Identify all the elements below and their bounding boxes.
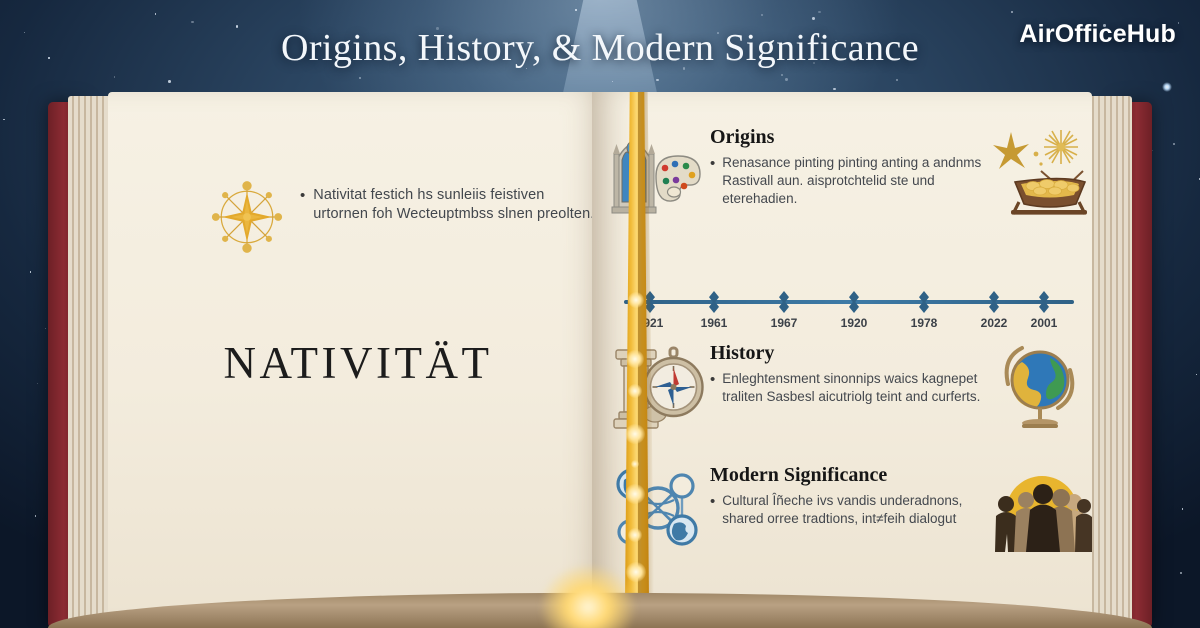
- star: [818, 11, 820, 13]
- left-page: • Nativitat festich hs sunleiis feistive…: [108, 92, 608, 628]
- star: [656, 79, 659, 82]
- star: [1162, 82, 1172, 92]
- illustration-canvas: Origins, History, & Modern Significance …: [0, 0, 1200, 628]
- modern-significance-body: Modern Significance • Cultural Îñeche iv…: [710, 460, 988, 528]
- light-particle: [631, 460, 639, 468]
- right-page: Origins • Renasance pinting pinting anti…: [592, 92, 1092, 628]
- timeline-year-label: 2022: [981, 316, 1008, 330]
- history-heading: History: [710, 342, 988, 365]
- light-particle: [628, 528, 642, 542]
- star: [1011, 11, 1013, 13]
- star: [30, 271, 32, 273]
- light-particle: [628, 384, 642, 398]
- star: [833, 88, 835, 90]
- timeline-year-label: 1967: [771, 316, 798, 330]
- section-history: History • Enleghtensment sinonnips waics…: [606, 338, 1092, 434]
- star: [1196, 374, 1197, 375]
- ribbon-shadow: [638, 92, 654, 598]
- star: [45, 328, 46, 329]
- left-page-headline: NATIVITÄT: [108, 337, 608, 389]
- star: [896, 79, 898, 81]
- globe-icon: [988, 338, 1092, 434]
- origins-heading: Origins: [710, 126, 988, 149]
- star: [3, 119, 5, 121]
- star: [575, 9, 577, 11]
- star: [1180, 572, 1182, 574]
- star: [812, 17, 815, 20]
- bullet-dot: •: [710, 154, 715, 208]
- left-page-bullet: • Nativitat festich hs sunleiis feistive…: [300, 178, 598, 256]
- light-particle: [625, 424, 645, 444]
- bullet-dot: •: [710, 370, 715, 406]
- history-body: History • Enleghtensment sinonnips waics…: [710, 338, 988, 406]
- star: [1178, 22, 1179, 23]
- light-particle: [625, 484, 645, 504]
- light-particle: [626, 350, 644, 368]
- modern-significance-heading: Modern Significance: [710, 464, 988, 487]
- star: [781, 74, 783, 76]
- star: [612, 81, 613, 82]
- star: [155, 13, 156, 14]
- left-page-bullet-row: • Nativitat festich hs sunleiis feistive…: [208, 178, 598, 256]
- timeline-year-label: 1920: [841, 316, 868, 330]
- open-book: • Nativitat festich hs sunleiis feistive…: [48, 92, 1152, 628]
- light-particle: [628, 292, 644, 308]
- star: [35, 515, 36, 516]
- star: [1152, 150, 1153, 151]
- star: [37, 383, 38, 384]
- origins-body: Origins • Renasance pinting pinting anti…: [710, 122, 988, 208]
- gutter-bottom-glow: [540, 564, 636, 628]
- star: [785, 78, 788, 81]
- star: [1173, 143, 1175, 145]
- star: [191, 21, 193, 23]
- origins-bullet-text: Renasance pinting pinting anting a andnm…: [722, 154, 988, 208]
- bullet-dot: •: [300, 186, 305, 256]
- section-origins: Origins • Renasance pinting pinting anti…: [606, 122, 1092, 218]
- star: [114, 76, 116, 78]
- timeline: 1921196119671920197820222001: [614, 282, 1080, 336]
- timeline-axis: [624, 300, 1074, 304]
- star: [761, 14, 763, 16]
- left-page-bullet-text: Nativitat festich hs sunleiis feistiven …: [313, 186, 598, 256]
- modern-significance-bullet-text: Cultural Îñeche ivs vandis underadnons, …: [722, 492, 988, 528]
- star: [359, 77, 361, 79]
- history-bullet-text: Enleghtensment sinonnips waics kagnepet …: [722, 370, 988, 406]
- timeline-year-label: 2001: [1031, 316, 1058, 330]
- book-gutter: [608, 92, 660, 628]
- compass-rose-star-icon: [208, 178, 286, 256]
- timeline-year-label: 1978: [911, 316, 938, 330]
- bullet-dot: •: [710, 492, 715, 528]
- history-bullet: • Enleghtensment sinonnips waics kagnepe…: [710, 370, 988, 406]
- people-silhouettes-sun-icon: [988, 460, 1092, 556]
- manger-star-icon: [988, 122, 1092, 218]
- star: [168, 80, 171, 83]
- star: [1182, 508, 1184, 510]
- section-modern-significance: Modern Significance • Cultural Îñeche iv…: [606, 460, 1092, 556]
- brand-logo: AirOfficeHub: [1019, 20, 1176, 49]
- timeline-year-label: 1961: [701, 316, 728, 330]
- origins-bullet: • Renasance pinting pinting anting a and…: [710, 154, 988, 208]
- modern-significance-bullet: • Cultural Îñeche ivs vandis underadnons…: [710, 492, 988, 528]
